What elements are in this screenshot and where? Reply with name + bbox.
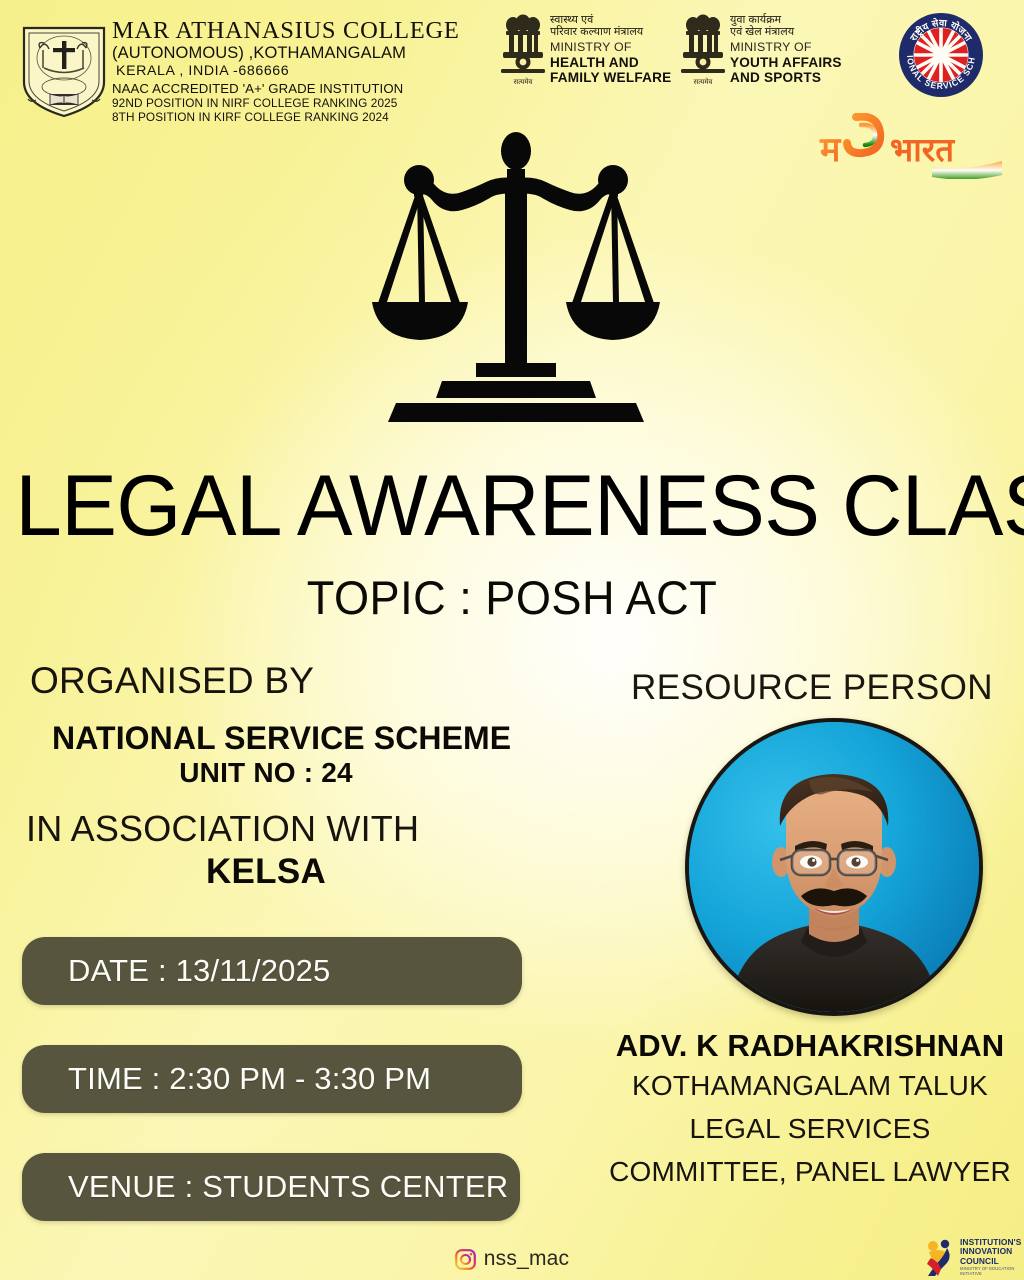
- venue-pill: VENUE : STUDENTS CENTER: [22, 1153, 520, 1221]
- college-text-block: MAR ATHANASIUS COLLEGE (AUTONOMOUS) ,KOT…: [112, 18, 492, 123]
- ministry-name-line-1: YOUTH AFFAIRS: [730, 55, 842, 70]
- speaker-role-line-2: LEGAL SERVICES: [596, 1113, 1024, 1145]
- legal-awareness-class-poster: MAR ATHANASIUS COLLEGE (AUTONOMOUS) ,KOT…: [0, 0, 1024, 1280]
- svg-text:सत्यमेव: सत्यमेव: [694, 77, 713, 86]
- ministry-hindi-line-1: स्वास्थ्य एवं: [550, 14, 671, 26]
- college-campus: (AUTONOMOUS) ,KOTHAMANGALAM: [112, 45, 492, 62]
- india-state-emblem-icon: सत्यमेव: [500, 12, 546, 92]
- college-accreditation: NAAC ACCREDITED 'A+' GRADE INSTITUTION: [112, 82, 492, 96]
- ministry-hindi-line-2: एवं खेल मंत्रालय: [730, 26, 842, 38]
- nss-konark-wheel-logo-icon: राष्ट्रीय सेवा योजना NATIONAL SERVICE SC…: [898, 12, 984, 98]
- time-pill: TIME : 2:30 PM - 3:30 PM: [22, 1045, 522, 1113]
- organised-by-label: ORGANISED BY: [30, 660, 314, 702]
- college-name: MAR ATHANASIUS COLLEGE: [112, 18, 492, 44]
- iic-line-3: COUNCIL: [960, 1257, 1021, 1266]
- instagram-handle-row[interactable]: nss_mac: [0, 1247, 1024, 1271]
- ministry-youth-affairs-sports-logo: सत्यमेव युवा कार्यक्रम एवं खेल मंत्रालय …: [680, 12, 842, 96]
- ministry-name-line-2: FAMILY WELFARE: [550, 70, 671, 85]
- college-kirf-rank: 8TH POSITION IN KIRF COLLEGE RANKING 202…: [112, 111, 492, 124]
- ministry-hindi-line-2: परिवार कल्याण मंत्रालय: [550, 26, 671, 38]
- date-text: DATE : 13/11/2025: [22, 953, 330, 989]
- page-title: LEGAL AWARENESS CLASS: [15, 463, 1008, 549]
- instagram-handle-text[interactable]: nss_mac: [484, 1247, 569, 1271]
- college-crest-shield-icon: [20, 24, 108, 118]
- ministry-health-family-welfare-logo: सत्यमेव स्वास्थ्य एवं परिवार कल्याण मंत्…: [500, 12, 671, 96]
- date-pill: DATE : 13/11/2025: [22, 937, 522, 1005]
- college-nirf-rank: 92ND POSITION IN NIRF COLLEGE RANKING 20…: [112, 97, 492, 110]
- speaker-role-line-1: KOTHAMANGALAM TALUK: [596, 1070, 1024, 1102]
- svg-text:सत्यमेव: सत्यमेव: [514, 77, 533, 86]
- ministry-name-line-1: HEALTH AND: [550, 55, 671, 70]
- ministry-of-label: MINISTRY OF: [550, 41, 671, 55]
- ministry-of-label: MINISTRY OF: [730, 41, 842, 55]
- organiser-name: NATIONAL SERVICE SCHEME: [52, 720, 511, 757]
- poster-header: MAR ATHANASIUS COLLEGE (AUTONOMOUS) ,KOT…: [0, 0, 1024, 130]
- speaker-portrait-photo: [685, 718, 983, 1016]
- topic-subtitle: TOPIC : POSH ACT: [20, 570, 1003, 625]
- time-text: TIME : 2:30 PM - 3:30 PM: [22, 1061, 431, 1097]
- iic-figure-mark-icon: [923, 1238, 957, 1276]
- association-partner-name: KELSA: [52, 852, 480, 892]
- instagram-icon[interactable]: [455, 1249, 476, 1270]
- ministry-hindi-line-1: युवा कार्यक्रम: [730, 14, 842, 26]
- my-bharat-logo-icon: म भारत: [812, 113, 1008, 179]
- svg-text:म: म: [819, 130, 842, 170]
- iic-logo-icon: INSTITUTION'S INNOVATION COUNCIL MINISTR…: [923, 1236, 1021, 1278]
- speaker-portrait-illustration: [689, 722, 979, 1012]
- iic-tagline: MINISTRY OF EDUCATION INITIATIVE: [960, 1267, 1021, 1276]
- ministry-name-line-2: AND SPORTS: [730, 70, 842, 85]
- iic-text-block: INSTITUTION'S INNOVATION COUNCIL MINISTR…: [960, 1238, 1021, 1277]
- college-location: KERALA , INDIA -686666: [112, 64, 492, 79]
- speaker-name: ADV. K RADHAKRISHNAN: [596, 1028, 1024, 1064]
- venue-text: VENUE : STUDENTS CENTER: [22, 1169, 508, 1205]
- scales-of-justice-icon: [372, 132, 660, 430]
- india-state-emblem-icon: सत्यमेव: [680, 12, 726, 92]
- ministry-health-text: स्वास्थ्य एवं परिवार कल्याण मंत्रालय MIN…: [550, 12, 671, 85]
- organiser-unit-number: UNIT NO : 24: [52, 757, 480, 789]
- speaker-role-line-3: COMMITTEE, PANEL LAWYER: [596, 1156, 1024, 1188]
- ministry-youth-text: युवा कार्यक्रम एवं खेल मंत्रालय MINISTRY…: [730, 12, 842, 85]
- in-association-with-label: IN ASSOCIATION WITH: [26, 808, 419, 850]
- svg-text:भारत: भारत: [890, 130, 955, 169]
- resource-person-label: RESOURCE PERSON: [600, 668, 1024, 708]
